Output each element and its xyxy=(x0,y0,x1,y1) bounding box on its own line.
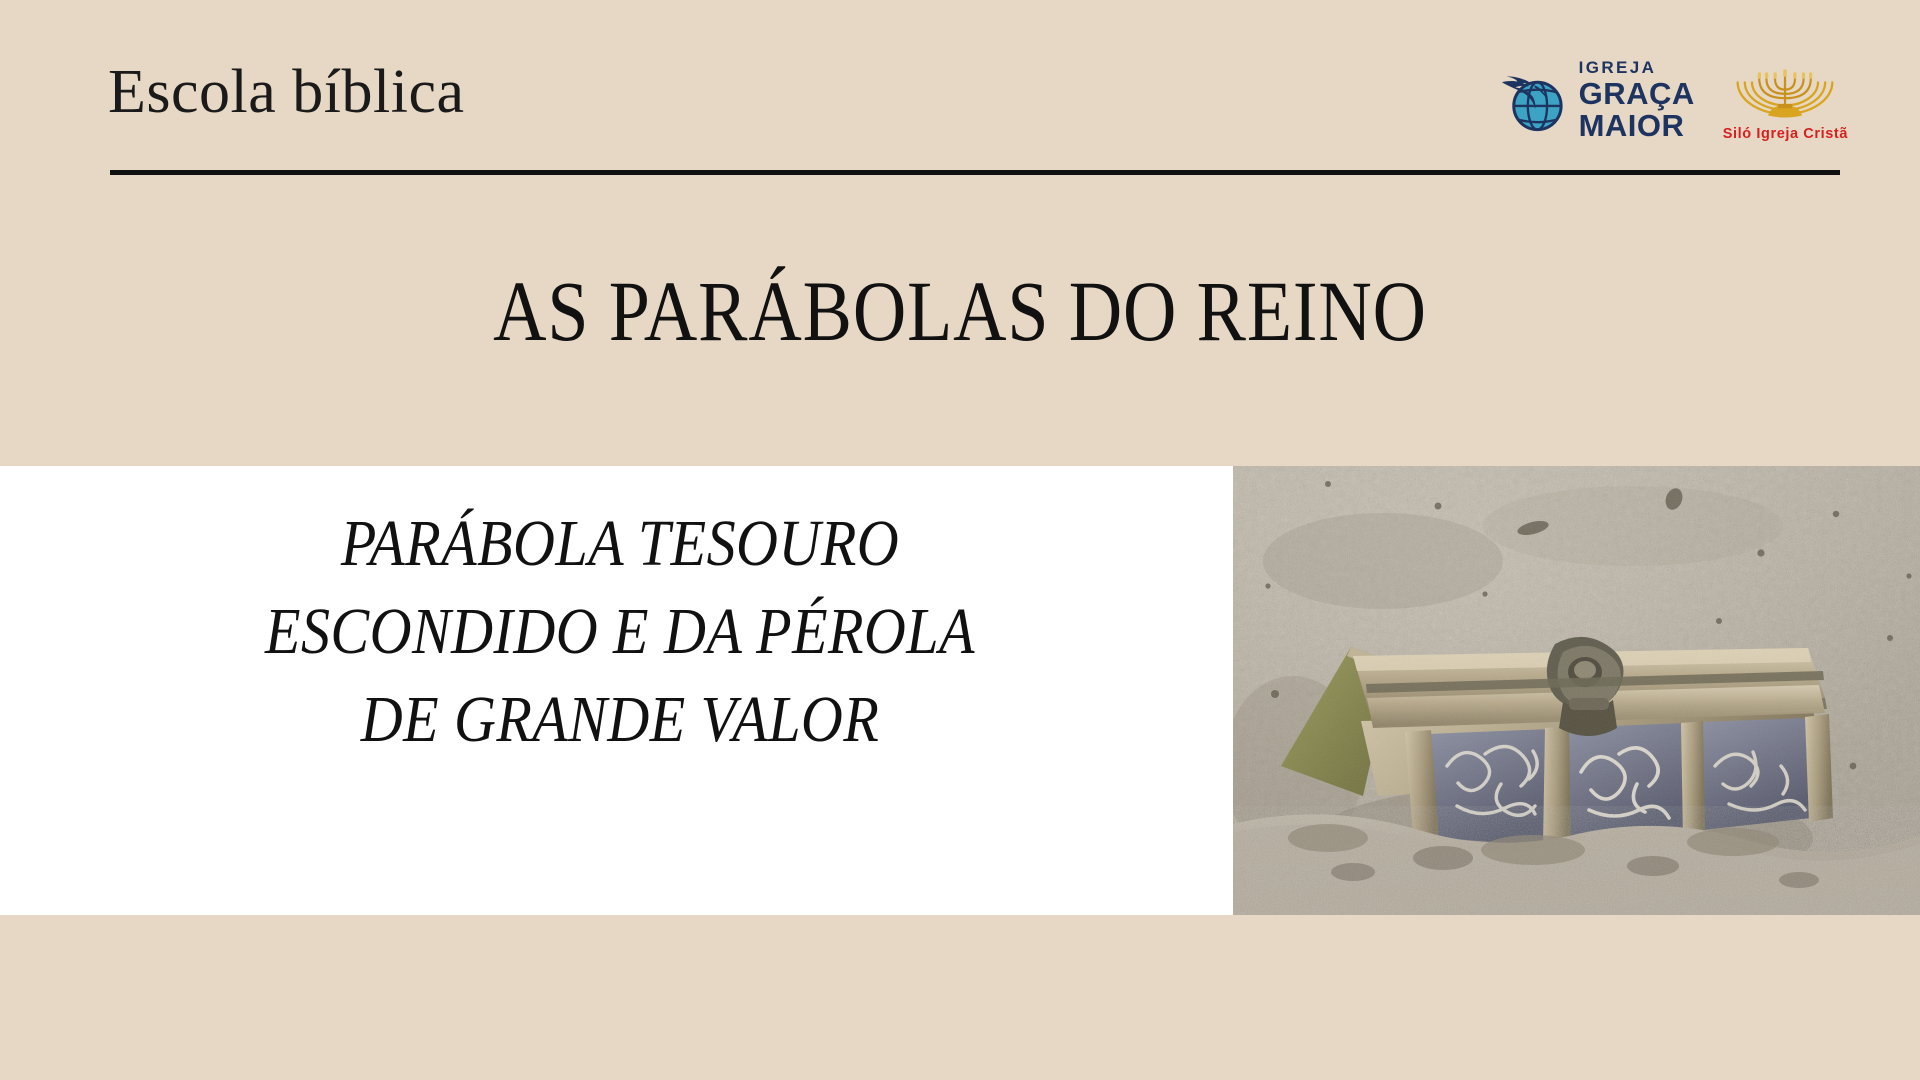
logo-igreja-graca-maior: IGREJA GRAÇA MAIOR xyxy=(1496,59,1695,141)
slide: Escola bíblica xyxy=(0,0,1920,1080)
logo-group: IGREJA GRAÇA MAIOR xyxy=(1496,58,1848,142)
logo-line-igreja: IGREJA xyxy=(1579,59,1657,76)
logo-silo-igreja-crista: Siló Igreja Cristã xyxy=(1723,58,1848,142)
main-heading: AS PARÁBOLAS DO REINO xyxy=(134,268,1785,354)
logo-silo-caption: Siló Igreja Cristã xyxy=(1723,126,1848,142)
logo-graca-wordmark: IGREJA GRAÇA MAIOR xyxy=(1579,59,1695,141)
logo-line-graca: GRAÇA xyxy=(1579,78,1695,109)
logo-line-maior: MAIOR xyxy=(1579,110,1685,141)
page-title: Escola bíblica xyxy=(108,58,464,126)
subtitle-text: PARÁBOLA TESOURO ESCONDIDO E DA PÉROLA D… xyxy=(224,500,1016,763)
dove-globe-icon xyxy=(1496,63,1570,137)
treasure-chest-image xyxy=(1233,466,1920,915)
header-divider xyxy=(110,170,1840,175)
menorah-icon xyxy=(1727,58,1843,124)
